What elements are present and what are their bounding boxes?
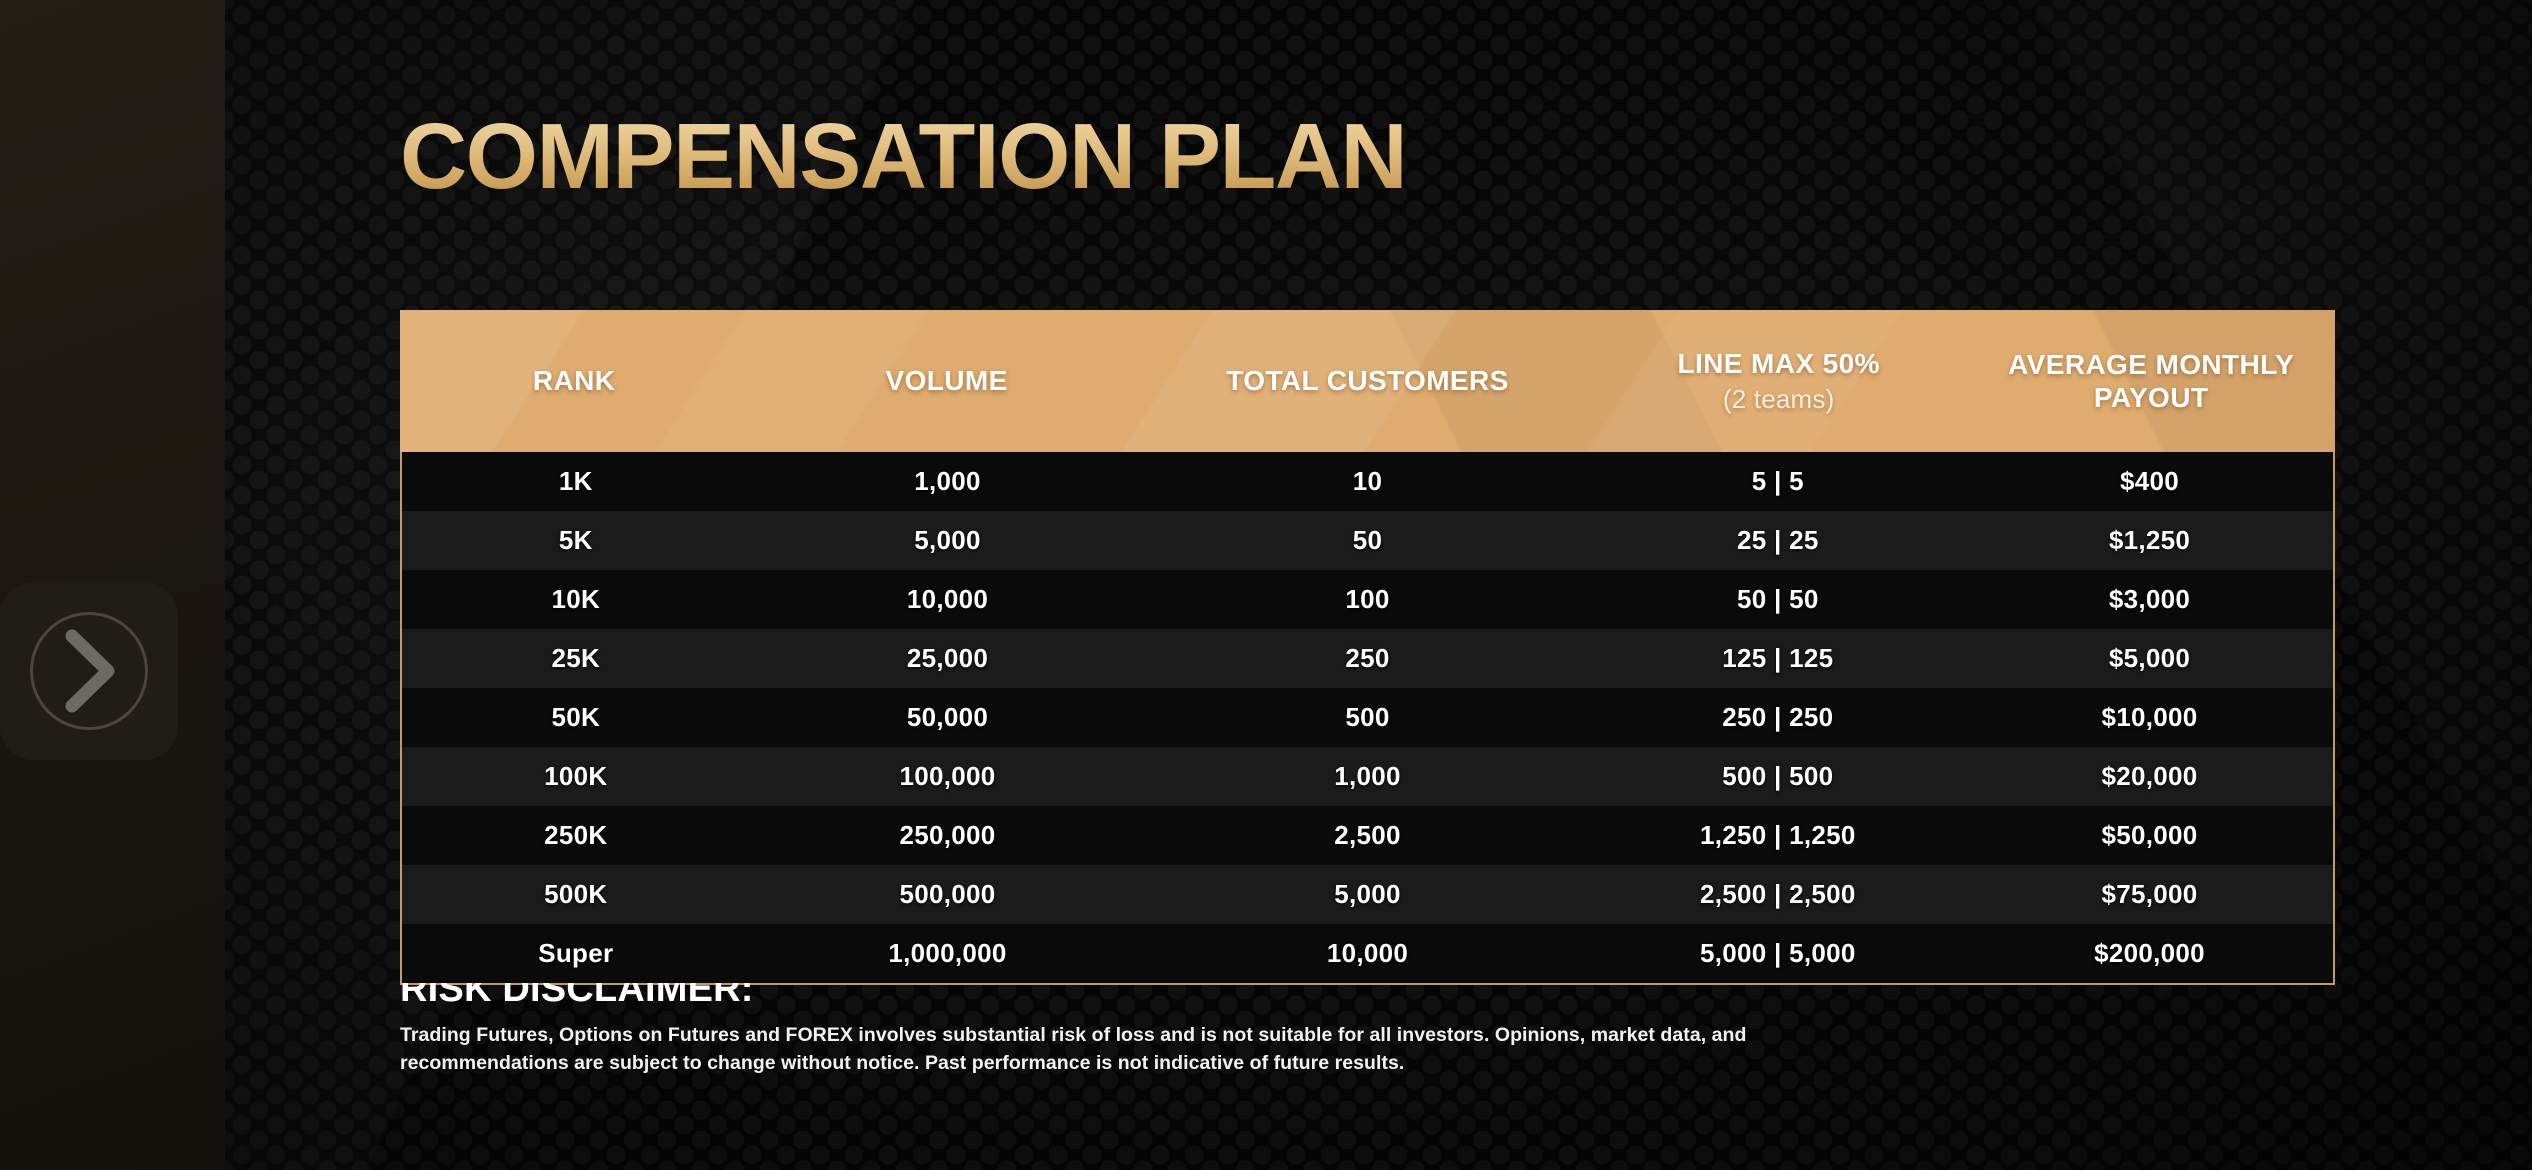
cell-total-customers: 1,000 xyxy=(1145,761,1589,792)
cell-volume: 5,000 xyxy=(750,525,1146,556)
cell-volume: 100,000 xyxy=(750,761,1146,792)
cell-line-max: 25 | 25 xyxy=(1590,525,1967,556)
cell-volume: 10,000 xyxy=(750,584,1146,615)
table-body: 1K1,000105 | 5$4005K5,0005025 | 25$1,250… xyxy=(400,452,2335,985)
cell-rank: 5K xyxy=(402,525,750,556)
cell-rank: 10K xyxy=(402,584,750,615)
table-row: 50K50,000500250 | 250$10,000 xyxy=(402,688,2333,747)
cell-average-monthly-payout: $20,000 xyxy=(1966,761,2333,792)
left-gutter xyxy=(0,0,225,1170)
cell-average-monthly-payout: $1,250 xyxy=(1966,525,2333,556)
cell-line-max: 5,000 | 5,000 xyxy=(1590,938,1967,969)
table-row: Super1,000,00010,0005,000 | 5,000$200,00… xyxy=(402,924,2333,983)
cell-average-monthly-payout: $50,000 xyxy=(1966,820,2333,851)
cell-line-max: 2,500 | 2,500 xyxy=(1590,879,1967,910)
cell-total-customers: 100 xyxy=(1145,584,1589,615)
cell-volume: 1,000 xyxy=(750,466,1146,497)
cell-rank: 500K xyxy=(402,879,750,910)
cell-total-customers: 50 xyxy=(1145,525,1589,556)
column-header-total-customers: TOTAL CUSTOMERS xyxy=(1145,365,1590,397)
cell-average-monthly-payout: $75,000 xyxy=(1966,879,2333,910)
cell-rank: Super xyxy=(402,938,750,969)
cell-average-monthly-payout: $200,000 xyxy=(1966,938,2333,969)
column-header-average-monthly-payout: AVERAGE MONTHLY PAYOUT xyxy=(1967,348,2335,414)
column-header-line-max-sublabel: (2 teams) xyxy=(1590,384,1967,415)
table-row: 1K1,000105 | 5$400 xyxy=(402,452,2333,511)
risk-disclaimer-body: Trading Futures, Options on Futures and … xyxy=(400,1022,1820,1077)
table-row: 5K5,0005025 | 25$1,250 xyxy=(402,511,2333,570)
cell-rank: 25K xyxy=(402,643,750,674)
table-row: 100K100,0001,000500 | 500$20,000 xyxy=(402,747,2333,806)
cell-volume: 250,000 xyxy=(750,820,1146,851)
table-row: 10K10,00010050 | 50$3,000 xyxy=(402,570,2333,629)
cell-volume: 25,000 xyxy=(750,643,1146,674)
cell-volume: 500,000 xyxy=(750,879,1146,910)
chevron-right-icon xyxy=(30,612,148,730)
table-row: 500K500,0005,0002,500 | 2,500$75,000 xyxy=(402,865,2333,924)
table-row: 25K25,000250125 | 125$5,000 xyxy=(402,629,2333,688)
cell-average-monthly-payout: $3,000 xyxy=(1966,584,2333,615)
column-header-volume: VOLUME xyxy=(748,365,1145,397)
cell-line-max: 50 | 50 xyxy=(1590,584,1967,615)
cell-total-customers: 2,500 xyxy=(1145,820,1589,851)
table-row: 250K250,0002,5001,250 | 1,250$50,000 xyxy=(402,806,2333,865)
next-slide-button[interactable] xyxy=(0,582,178,760)
cell-average-monthly-payout: $400 xyxy=(1966,466,2333,497)
cell-total-customers: 500 xyxy=(1145,702,1589,733)
cell-volume: 50,000 xyxy=(750,702,1146,733)
table-header-row: RANK VOLUME TOTAL CUSTOMERS LINE MAX 50%… xyxy=(400,310,2335,452)
compensation-plan-table: RANK VOLUME TOTAL CUSTOMERS LINE MAX 50%… xyxy=(400,310,2335,985)
cell-line-max: 500 | 500 xyxy=(1590,761,1967,792)
cell-rank: 250K xyxy=(402,820,750,851)
cell-volume: 1,000,000 xyxy=(750,938,1146,969)
column-header-line-max: LINE MAX 50% (2 teams) xyxy=(1590,347,1967,415)
page-title: COMPENSATION PLAN xyxy=(400,110,1406,203)
cell-line-max: 5 | 5 xyxy=(1590,466,1967,497)
cell-rank: 50K xyxy=(402,702,750,733)
slide-canvas: COMPENSATION PLAN RANK VOLUME TOTAL CUST… xyxy=(225,0,2532,1170)
cell-total-customers: 10 xyxy=(1145,466,1589,497)
column-header-rank: RANK xyxy=(400,365,748,397)
cell-line-max: 125 | 125 xyxy=(1590,643,1967,674)
cell-rank: 100K xyxy=(402,761,750,792)
cell-line-max: 1,250 | 1,250 xyxy=(1590,820,1967,851)
cell-line-max: 250 | 250 xyxy=(1590,702,1967,733)
slide-viewer: COMPENSATION PLAN RANK VOLUME TOTAL CUST… xyxy=(0,0,2532,1170)
cell-total-customers: 10,000 xyxy=(1145,938,1589,969)
cell-total-customers: 5,000 xyxy=(1145,879,1589,910)
cell-rank: 1K xyxy=(402,466,750,497)
cell-average-monthly-payout: $10,000 xyxy=(1966,702,2333,733)
cell-average-monthly-payout: $5,000 xyxy=(1966,643,2333,674)
cell-total-customers: 250 xyxy=(1145,643,1589,674)
